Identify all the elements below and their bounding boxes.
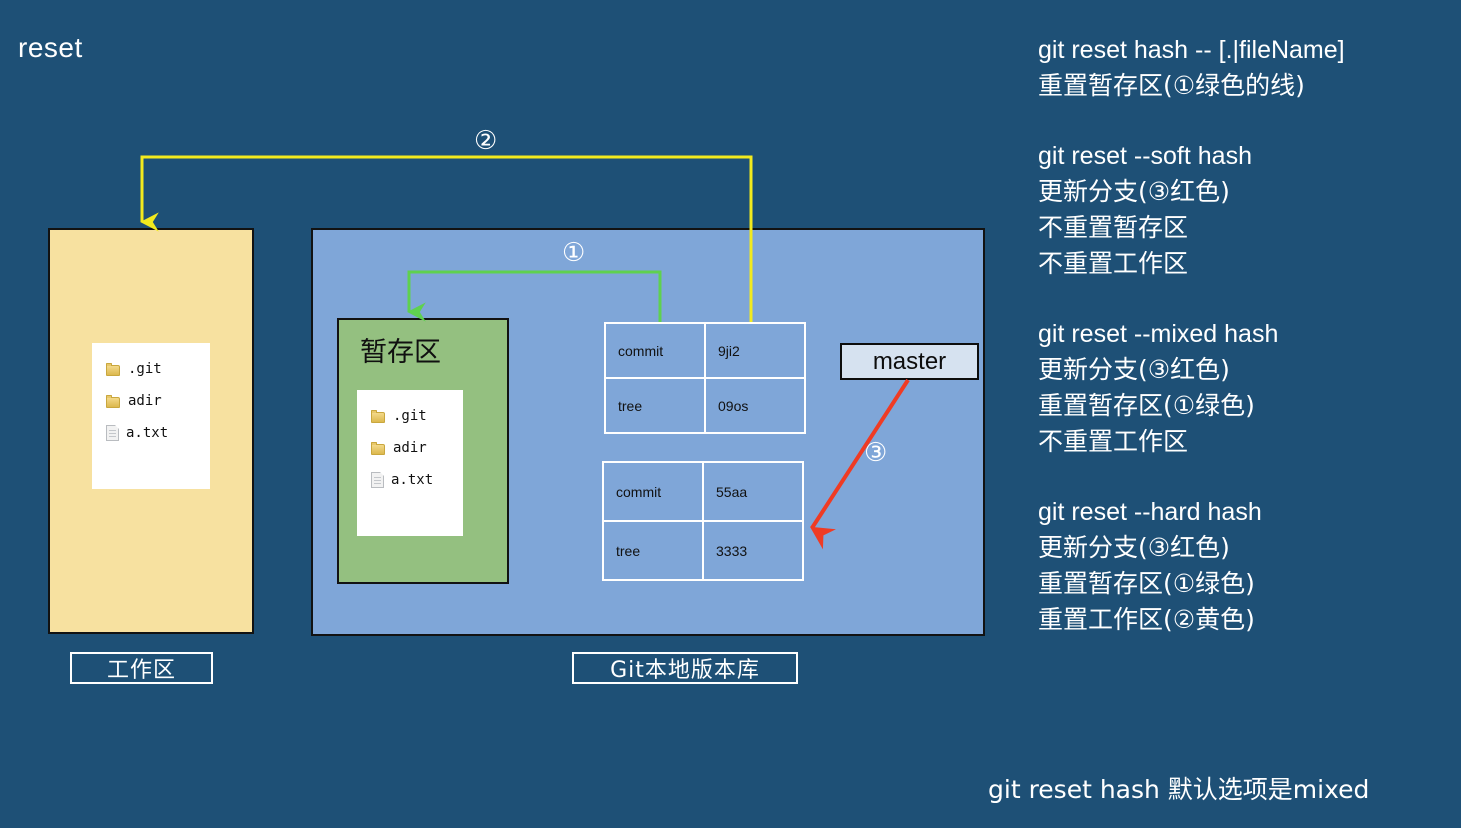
note-line: git reset hash -- [.|fileName]: [1038, 32, 1458, 68]
staging-file-list: .git adir a.txt: [357, 390, 463, 496]
tree-value: 3333: [703, 521, 803, 580]
list-item: .git: [357, 400, 463, 432]
file-icon: [371, 472, 384, 488]
note-block-reset-soft: git reset --soft hash 更新分支(③红色) 不重置暂存区 不…: [1038, 138, 1458, 282]
git-repository-caption: Git本地版本库: [572, 652, 798, 684]
note-line: 更新分支(③红色): [1038, 352, 1458, 388]
file-name: adir: [393, 440, 427, 456]
tree-key: tree: [603, 521, 703, 580]
tree-key: tree: [605, 378, 705, 433]
table-row: tree 3333: [603, 521, 803, 580]
file-name: a.txt: [126, 425, 168, 441]
list-item: adir: [357, 432, 463, 464]
step-badge-two: ②: [474, 128, 497, 154]
folder-icon: [371, 410, 386, 423]
folder-icon: [106, 363, 121, 376]
note-line: git reset --hard hash: [1038, 494, 1458, 530]
commit-key: commit: [605, 323, 705, 378]
commit-object-table-2: commit 55aa tree 3333: [602, 461, 804, 581]
folder-icon: [106, 395, 121, 408]
table-row: commit 55aa: [603, 462, 803, 521]
commit-value: 55aa: [703, 462, 803, 521]
folder-icon: [371, 442, 386, 455]
note-block-reset-mixed: git reset --mixed hash 更新分支(③红色) 重置暂存区(①…: [1038, 316, 1458, 460]
note-line: 不重置工作区: [1038, 424, 1458, 460]
file-name: .git: [393, 408, 427, 424]
list-item: a.txt: [357, 464, 463, 496]
table-row: tree 09os: [605, 378, 805, 433]
note-line: 更新分支(③红色): [1038, 530, 1458, 566]
note-line: 不重置工作区: [1038, 246, 1458, 282]
notes-panel: git reset hash -- [.|fileName] 重置暂存区(①绿色…: [1038, 32, 1458, 672]
note-line: git reset --soft hash: [1038, 138, 1458, 174]
note-block-reset-path: git reset hash -- [.|fileName] 重置暂存区(①绿色…: [1038, 32, 1458, 104]
table-row: commit 9ji2: [605, 323, 805, 378]
note-block-reset-hard: git reset --hard hash 更新分支(③红色) 重置暂存区(①绿…: [1038, 494, 1458, 638]
note-line: 不重置暂存区: [1038, 210, 1458, 246]
commit-key: commit: [603, 462, 703, 521]
note-line: 重置暂存区(①绿色): [1038, 566, 1458, 602]
note-line: 更新分支(③红色): [1038, 174, 1458, 210]
branch-label-master: master: [840, 343, 979, 380]
notes-footer: git reset hash 默认选项是mixed: [988, 772, 1369, 808]
note-line: 重置暂存区(①绿色的线): [1038, 68, 1458, 104]
list-item: adir: [92, 385, 210, 417]
working-file-list: .git adir a.txt: [92, 343, 210, 449]
note-line: git reset hash 默认选项是mixed: [988, 772, 1369, 808]
note-line: 重置暂存区(①绿色): [1038, 388, 1458, 424]
list-item: .git: [92, 353, 210, 385]
tree-value: 09os: [705, 378, 805, 433]
staging-file-panel: .git adir a.txt: [357, 390, 463, 536]
file-icon: [106, 425, 119, 441]
page-title: reset: [18, 32, 83, 64]
list-item: a.txt: [92, 417, 210, 449]
staging-area-title: 暂存区: [360, 330, 441, 369]
working-directory-caption: 工作区: [70, 652, 213, 684]
note-line: 重置工作区(②黄色): [1038, 602, 1458, 638]
diagram-canvas: reset .git adir a.txt 暂存区 .git: [0, 0, 1461, 828]
commit-object-table-1: commit 9ji2 tree 09os: [604, 322, 806, 434]
file-name: adir: [128, 393, 162, 409]
step-badge-three: ③: [864, 440, 887, 466]
file-name: .git: [128, 361, 162, 377]
step-badge-one: ①: [562, 240, 585, 266]
file-name: a.txt: [391, 472, 433, 488]
commit-value: 9ji2: [705, 323, 805, 378]
working-directory-file-panel: .git adir a.txt: [92, 343, 210, 489]
note-line: git reset --mixed hash: [1038, 316, 1458, 352]
